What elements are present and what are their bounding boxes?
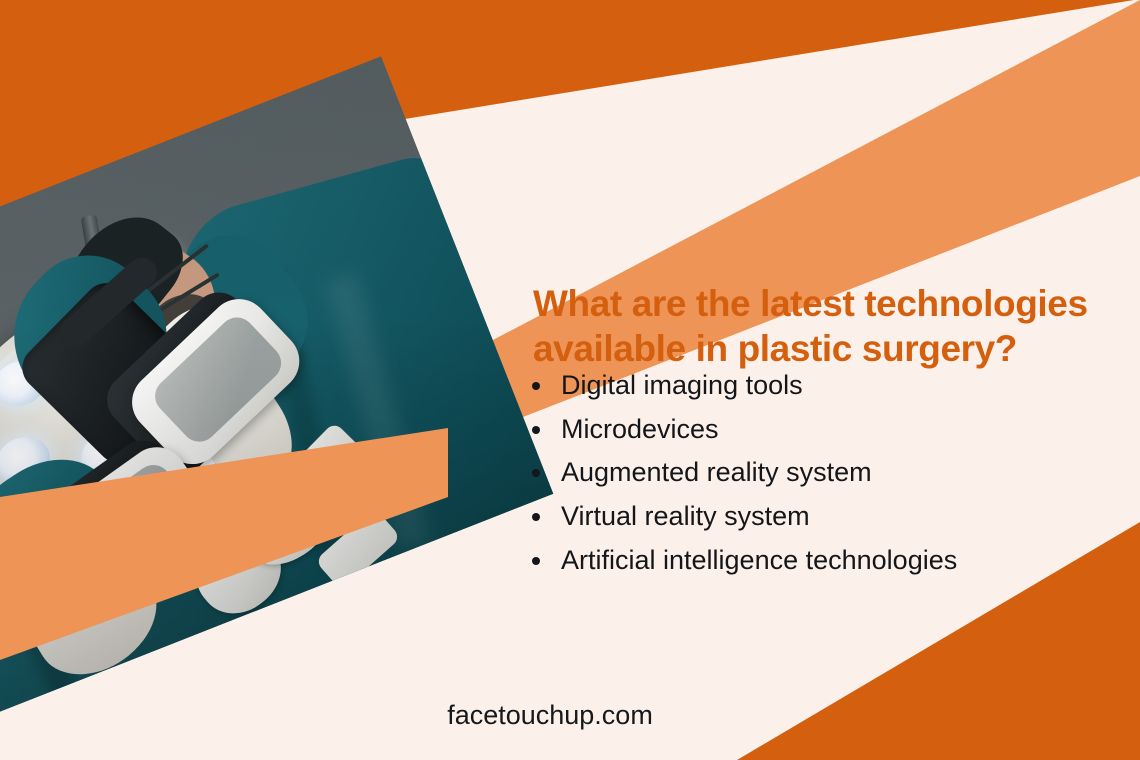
list-item: Microdevices bbox=[555, 408, 1140, 452]
poster-canvas: What are the latest technologies availab… bbox=[0, 0, 1140, 760]
footer-website-url: facetouchup.com bbox=[0, 700, 1100, 731]
list-item: Virtual reality system bbox=[555, 495, 1140, 539]
list-item: Augmented reality system bbox=[555, 451, 1140, 495]
technology-list: Digital imaging tools Microdevices Augme… bbox=[517, 364, 1140, 583]
list-item: Digital imaging tools bbox=[555, 364, 1140, 408]
list-item: Artificial intelligence technologies bbox=[555, 539, 1140, 583]
page-title: What are the latest technologies availab… bbox=[533, 281, 1123, 371]
